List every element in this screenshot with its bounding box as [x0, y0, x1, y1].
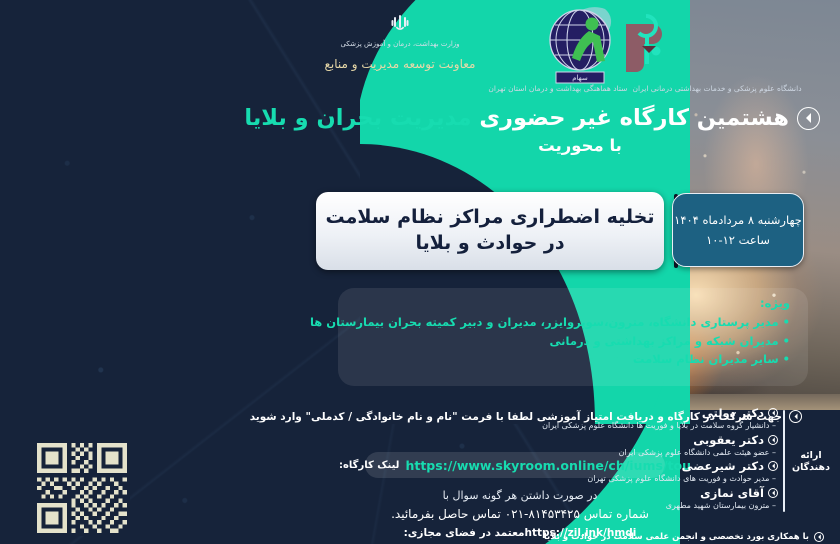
event-time: ساعت ۱۲-۱۰ [706, 233, 770, 247]
list-item: سایر مدیران نظام سلامت [352, 350, 790, 369]
presenters-list: دکتر دولتی دانشیار گروه سلامت در بلایا و… [586, 406, 778, 512]
audience-list: مدیر پرستاری دانشگاه، مترون،سوپروایزر، م… [352, 313, 790, 369]
presenter-name: دکتر دولتی [702, 406, 764, 420]
audience-heading: ویژه: [352, 296, 790, 310]
presenter-name: آقای نمازی [700, 486, 764, 500]
list-item: آقای نمازی مترون بیمارستان شهید مطهری [586, 486, 778, 512]
presenters-divider [783, 410, 785, 512]
seham-logo: سهام [490, 6, 670, 90]
moh-caption-line1: وزارت بهداشت، درمان و آموزش پزشکی [290, 40, 510, 48]
list-item: دکتر دولتی دانشیار گروه سلامت در بلایا و… [586, 406, 778, 432]
topic-line-2: در حوادث و بلایا [415, 231, 564, 257]
topic-band: تخلیه اضطراری مراکز نظام سلامت در حوادث … [306, 190, 826, 272]
presenters-footer-text: با همکاری بورد تخصصی و انجمن علمی سلامت … [544, 532, 809, 542]
presenter-desc: عضو هیئت علمی دانشگاه علوم پزشکی ایران [586, 447, 778, 459]
presenter-desc: مترون بیمارستان شهید مطهری [586, 500, 778, 512]
presenters-label: ارائه دهندگان [788, 450, 834, 475]
page-title: هشتمین کارگاه غیر حضوری مدیریت بحران و ب… [244, 105, 789, 131]
chevron-left-circle-icon [768, 488, 778, 498]
main-title-row: هشتمین کارگاه غیر حضوری مدیریت بحران و ب… [320, 105, 820, 131]
qr-code[interactable] [34, 440, 130, 536]
iran-emblem-icon [389, 14, 411, 34]
workshop-link-label: لینک کارگاه: [339, 460, 399, 471]
presenter-name: دکتر شیرعضی [682, 459, 764, 473]
date-time-chip: چهارشنبه ۸ مردادماه ۱۴۰۴ ساعت ۱۲-۱۰ [672, 193, 804, 267]
event-poster: دانشگاه علوم پزشکی و خدمات بهداشتی درمان… [0, 0, 840, 544]
list-item: مدیر پرستاری دانشگاه، مترون،سوپروایزر، م… [352, 313, 790, 332]
moh-caption-line2: معاونت توسعه مدیریت و منابع [290, 57, 510, 71]
chevron-left-circle-icon [768, 435, 778, 445]
list-item: دکتر شیرعضی مدیر حوادث و فوریت های دانشگ… [586, 459, 778, 485]
chevron-left-circle-icon [797, 107, 820, 130]
presenters-panel: ارائه دهندگان دکتر دولتی دانشیار گروه سل… [580, 404, 840, 544]
chevron-left-circle-icon [768, 461, 778, 471]
svg-text:سهام: سهام [572, 74, 588, 82]
event-date: چهارشنبه ۸ مردادماه ۱۴۰۴ [674, 213, 802, 227]
ministry-of-health-logo: وزارت بهداشت، درمان و آموزش پزشکی معاونت… [290, 14, 510, 71]
header-logo-row: دانشگاه علوم پزشکی و خدمات بهداشتی درمان… [0, 0, 840, 108]
seham-globe-person-icon: سهام [534, 6, 626, 86]
presenter-desc: دانشیار گروه سلامت در بلایا و فوریت ها د… [586, 420, 778, 432]
chevron-left-circle-icon [814, 532, 824, 542]
topic-card: تخلیه اضطراری مراکز نظام سلامت در حوادث … [316, 192, 664, 270]
presenter-name: دکتر یعقوبی [693, 433, 764, 447]
title-prefix: هشتمین کارگاه غیر حضوری [472, 105, 789, 131]
social-label: معتمد در فضای مجازی: [404, 527, 525, 539]
audience-panel: ویژه: مدیر پرستاری دانشگاه، مترون،سوپروا… [338, 288, 808, 386]
topic-line-1: تخلیه اضطراری مراکز نظام سلامت [325, 205, 654, 231]
list-item: دکتر یعقوبی عضو هیئت علمی دانشگاه علوم پ… [586, 433, 778, 459]
title-subline: با محوریت [340, 136, 820, 155]
list-item: مدیران شبکه و مراکز بهداشتی و درمانی [352, 332, 790, 351]
title-highlight: مدیریت بحران و بلایا [244, 105, 471, 131]
presenters-footer-row: با همکاری بورد تخصصی و انجمن علمی سلامت … [588, 532, 824, 542]
presenter-desc: مدیر حوادث و فوریت های دانشگاه علوم پزشک… [586, 473, 778, 485]
chevron-left-circle-icon [768, 408, 778, 418]
